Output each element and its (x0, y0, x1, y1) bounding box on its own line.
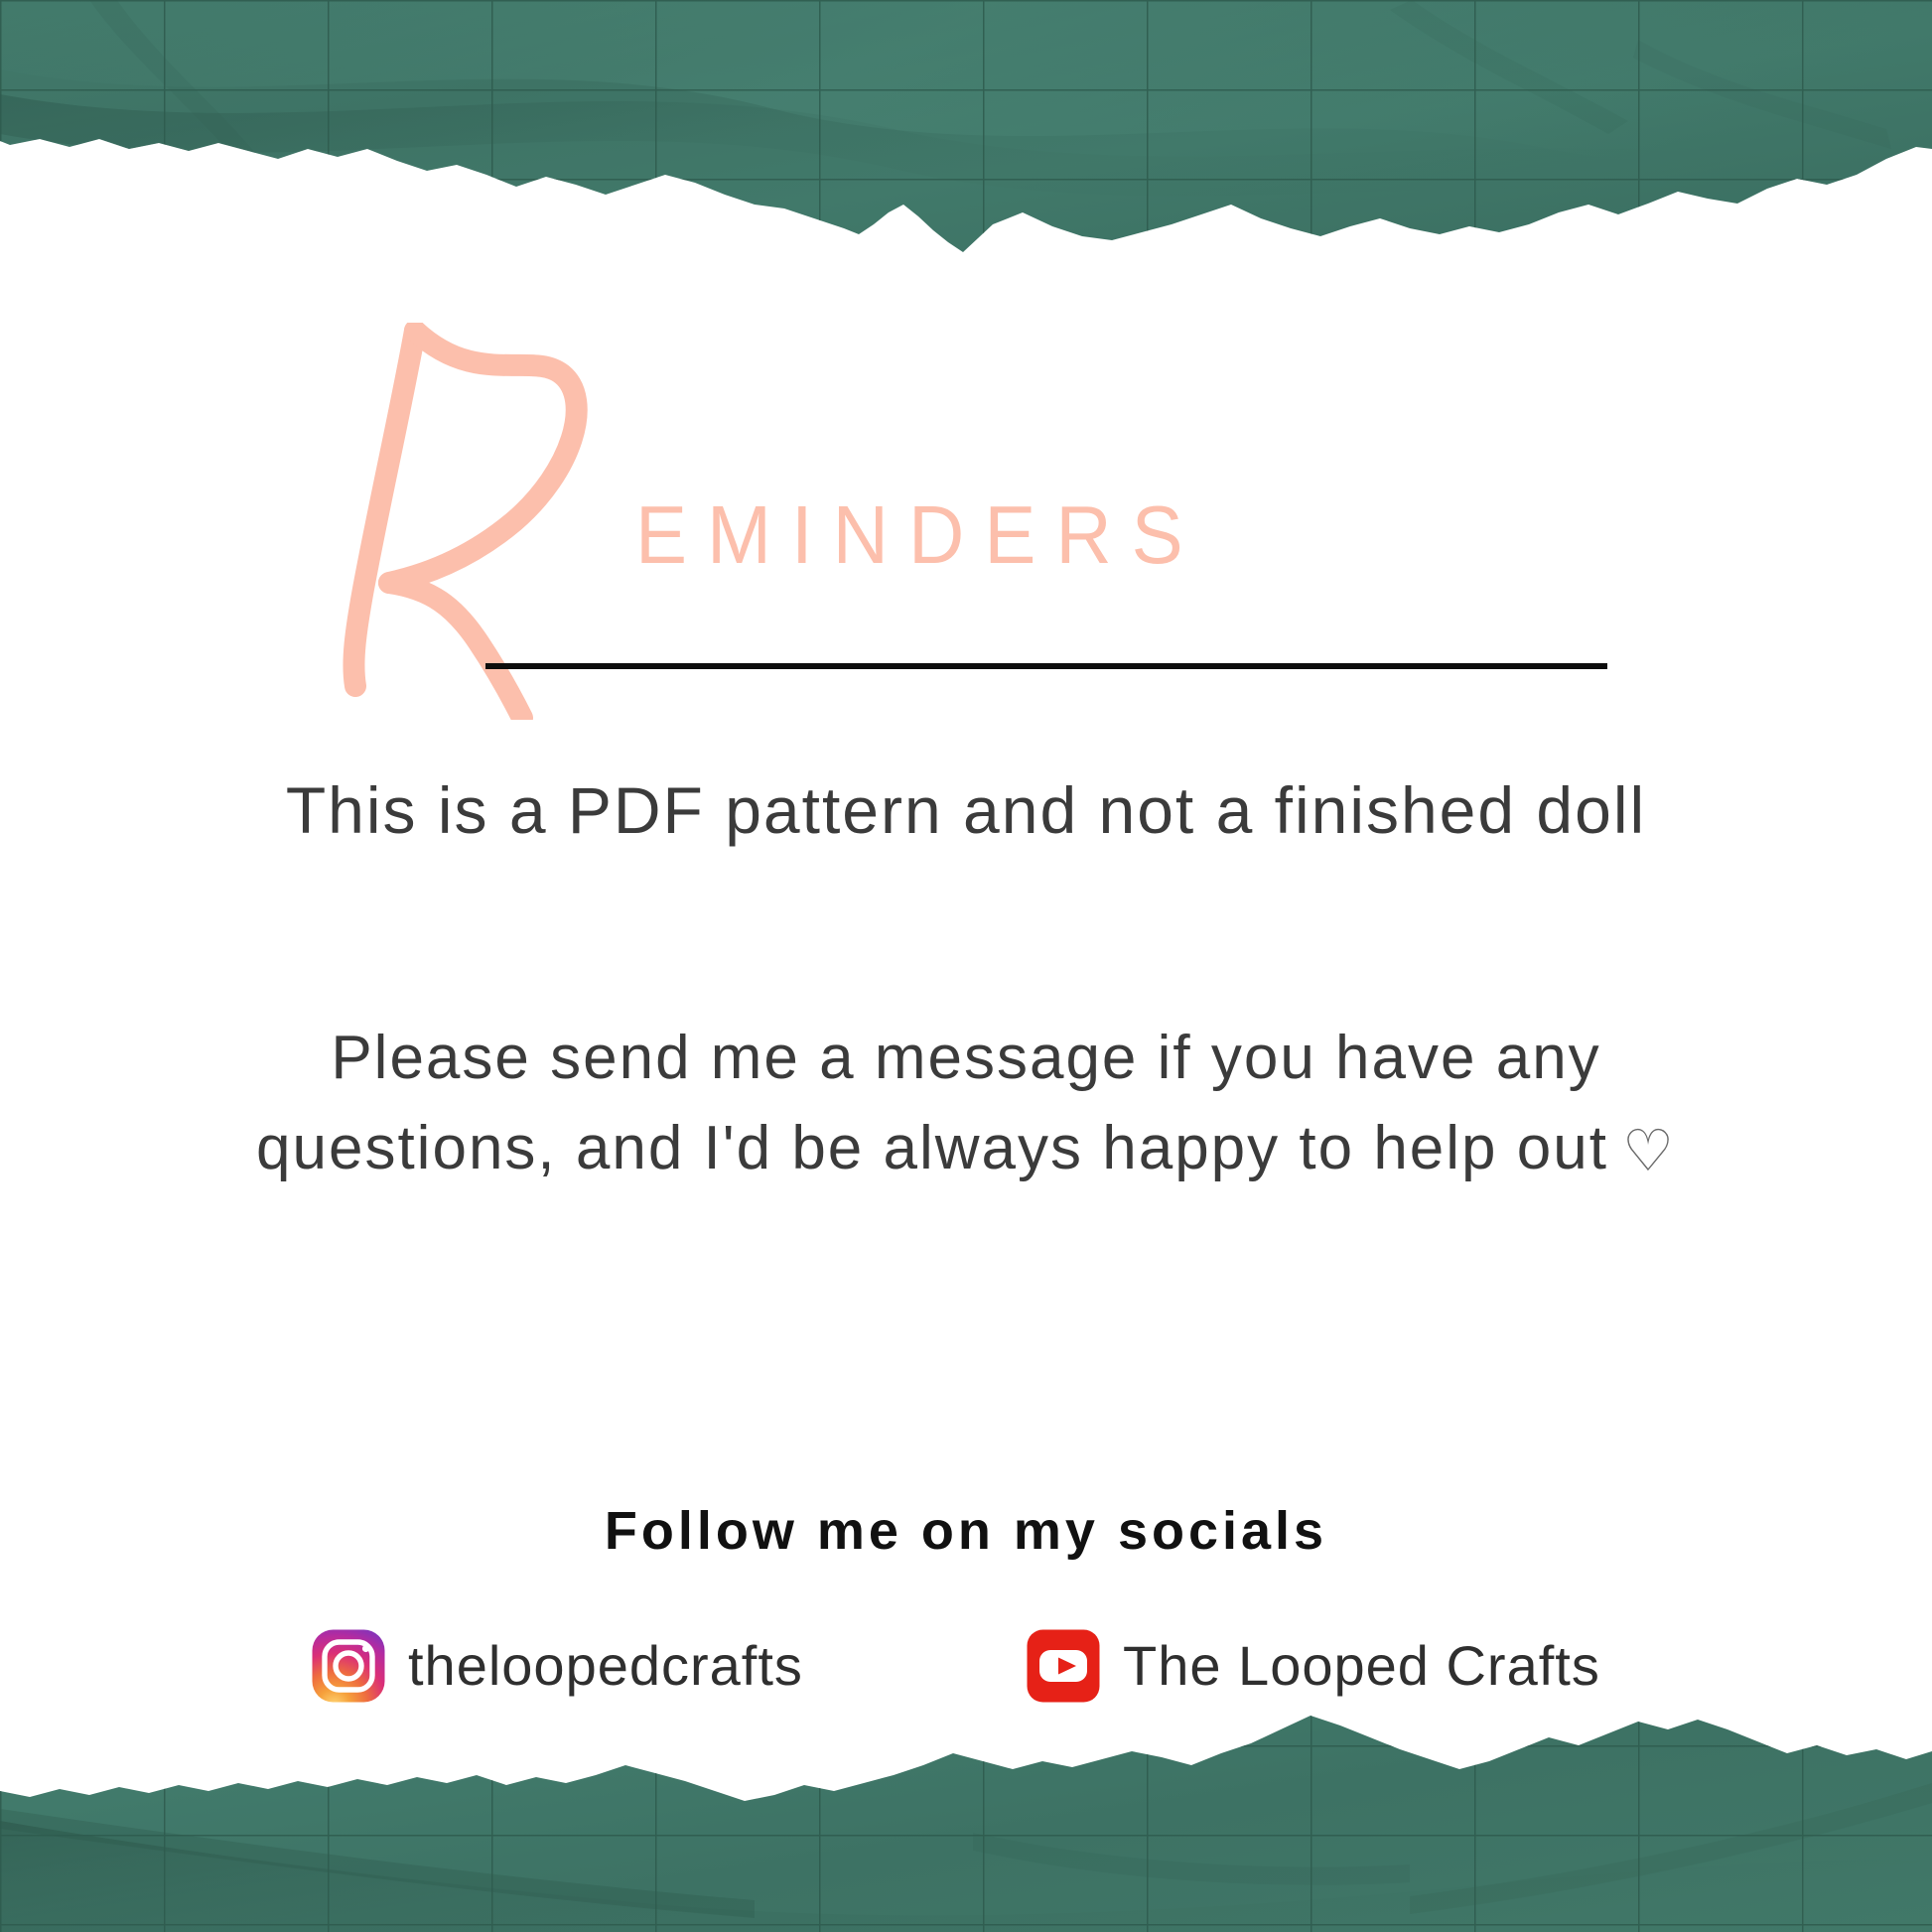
script-r-monogram (328, 323, 645, 720)
socials-row: theloopedcrafts The Looped Crafts (311, 1628, 1621, 1704)
page-title-reminders: EMINDERS (635, 493, 1203, 576)
contact-message-text: Please send me a message if you have any… (221, 1013, 1711, 1193)
title-divider-rule (485, 663, 1607, 669)
top-torn-paper-band (0, 0, 1932, 298)
instagram-icon[interactable] (311, 1628, 386, 1704)
social-link-instagram[interactable]: theloopedcrafts (311, 1628, 1026, 1704)
contact-message-body: Please send me a message if you have any… (256, 1024, 1608, 1182)
socials-heading: Follow me on my socials (271, 1504, 1661, 1558)
social-link-youtube[interactable]: The Looped Crafts (1026, 1628, 1621, 1704)
youtube-icon[interactable] (1026, 1628, 1101, 1704)
pattern-disclaimer-text: This is a PDF pattern and not a finished… (221, 767, 1711, 854)
youtube-channel-name[interactable]: The Looped Crafts (1123, 1638, 1600, 1694)
heart-icon: ♡ (1622, 1109, 1676, 1193)
instagram-handle[interactable]: theloopedcrafts (408, 1638, 803, 1694)
reminders-card: EMINDERS This is a PDF pattern and not a… (0, 0, 1932, 1932)
